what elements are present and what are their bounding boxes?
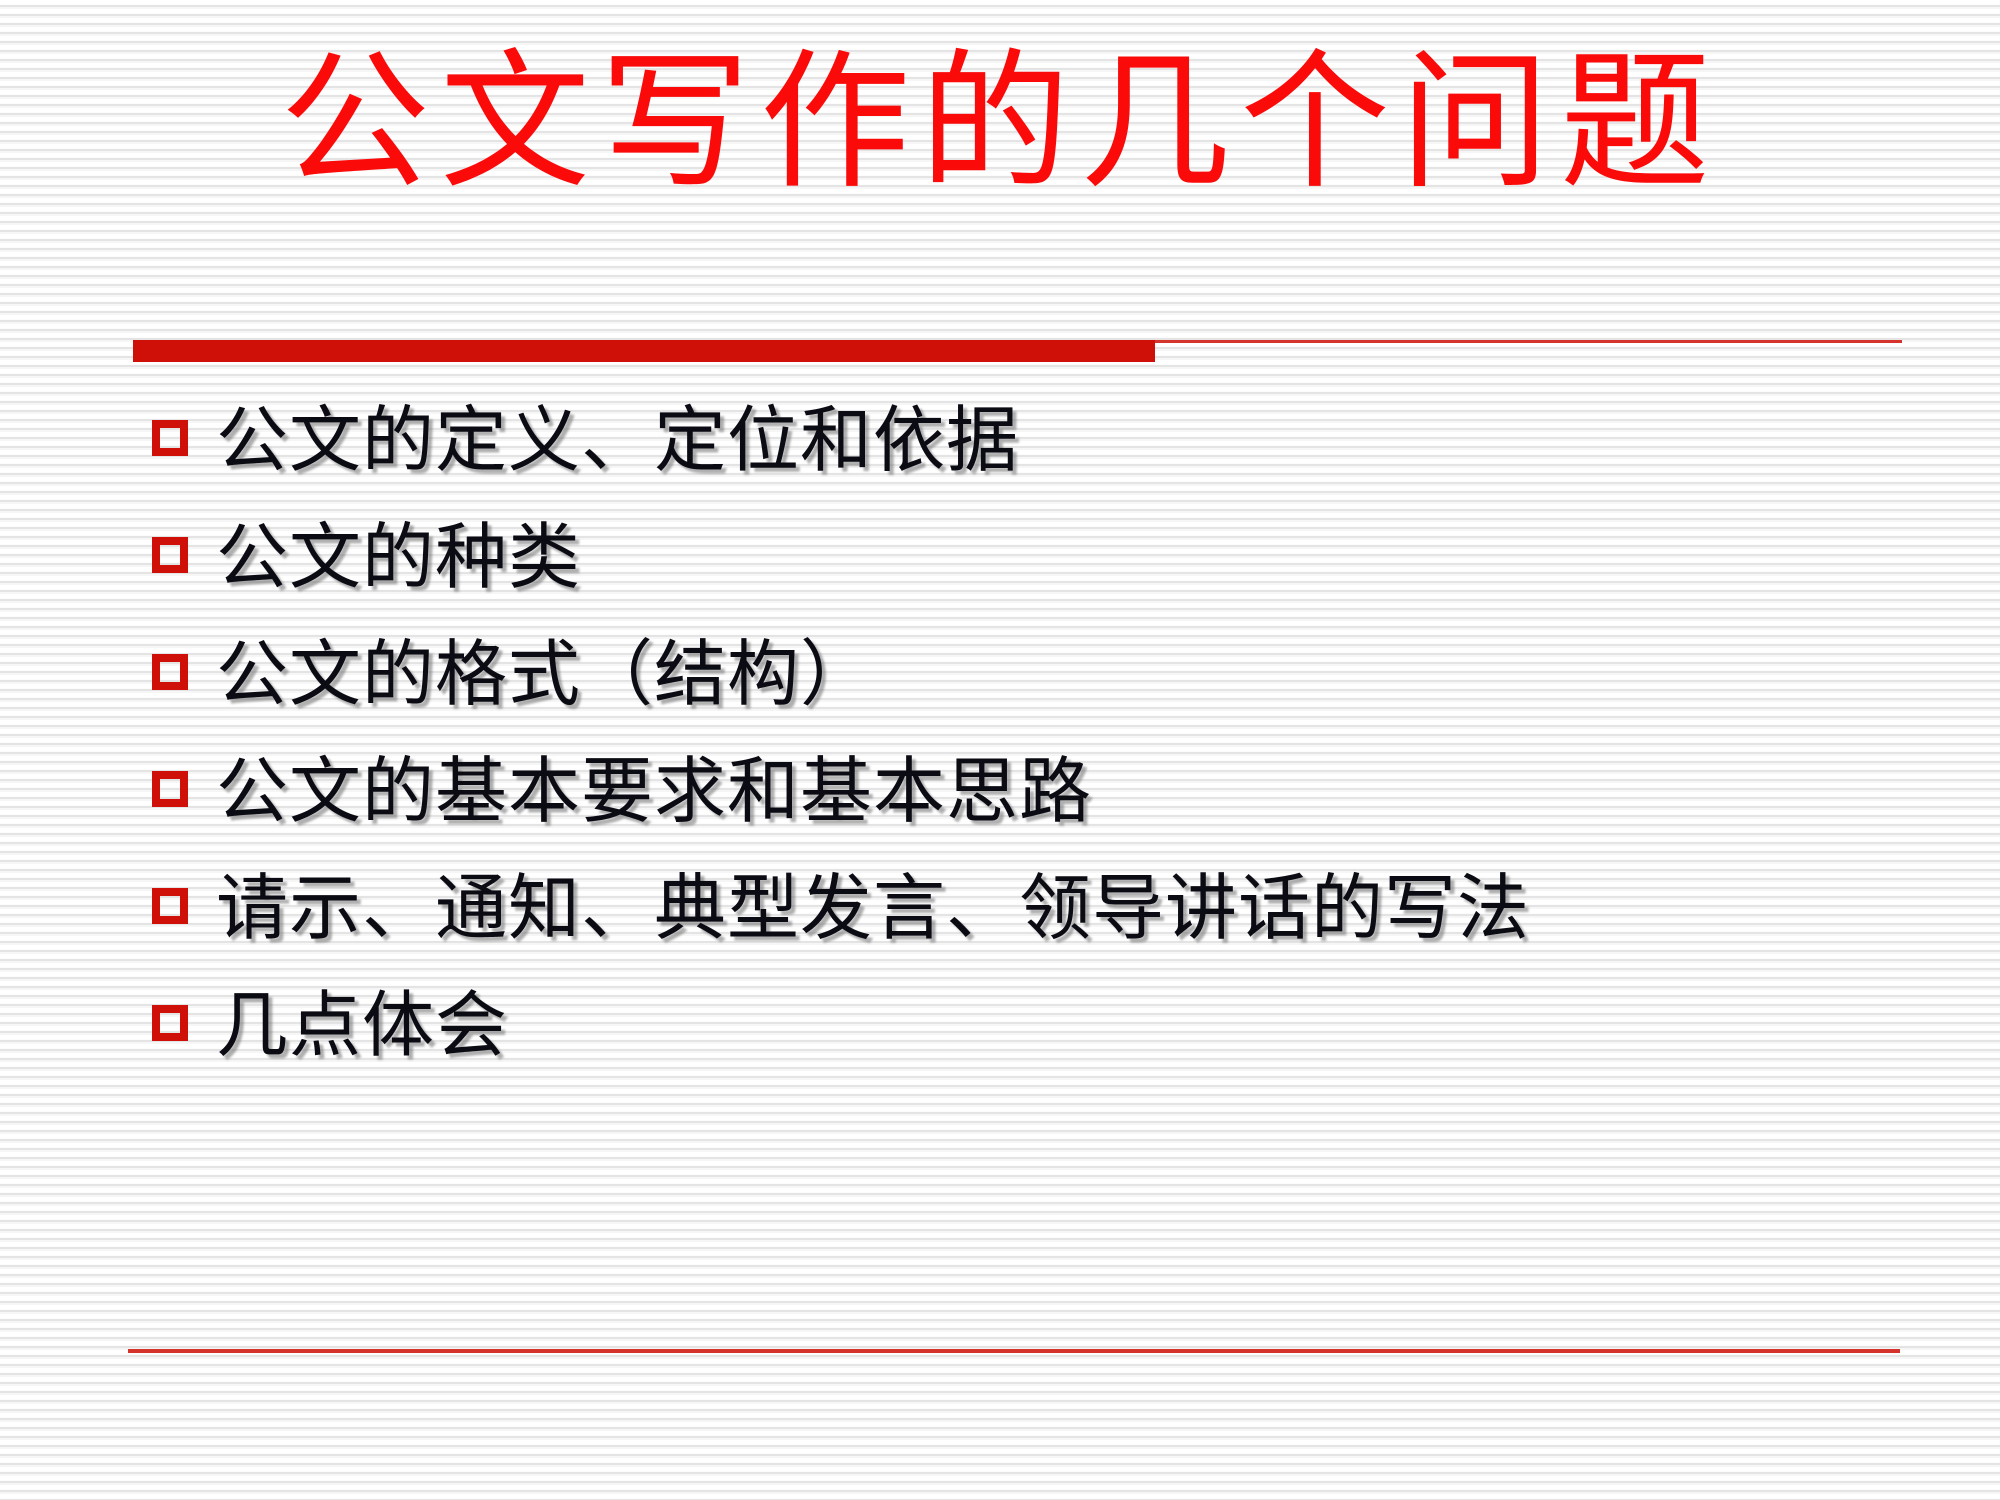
- divider-thick-bar: [133, 340, 1155, 362]
- list-item: 公文的基本要求和基本思路: [0, 749, 2000, 866]
- list-item-label: 几点体会: [216, 983, 2000, 1067]
- bottom-divider-rule: [128, 1349, 1900, 1353]
- presentation-slide: 公文写作的几个问题 公文的定义、定位和依据 公文的种类 公文的格式（结构） 公文…: [0, 0, 2000, 1500]
- list-item: 公文的格式（结构）: [0, 632, 2000, 749]
- list-item-label: 公文的定义、定位和依据: [216, 398, 2000, 482]
- list-item: 公文的定义、定位和依据: [0, 398, 2000, 515]
- divider-thin-line: [1155, 340, 1902, 343]
- bullet-list: 公文的定义、定位和依据 公文的种类 公文的格式（结构） 公文的基本要求和基本思路…: [0, 398, 2000, 1100]
- square-bullet-icon: [152, 654, 188, 690]
- list-item: 公文的种类: [0, 515, 2000, 632]
- square-bullet-icon: [152, 888, 188, 924]
- list-item-label: 公文的格式（结构）: [216, 632, 2000, 716]
- square-bullet-icon: [152, 1005, 188, 1041]
- list-item-label: 公文的基本要求和基本思路: [216, 749, 2000, 833]
- square-bullet-icon: [152, 420, 188, 456]
- title-divider: [0, 338, 2000, 364]
- square-bullet-icon: [152, 771, 188, 807]
- list-item-label: 公文的种类: [216, 515, 2000, 599]
- list-item: 请示、通知、典型发言、领导讲话的写法: [0, 866, 2000, 983]
- list-item: 几点体会: [0, 983, 2000, 1100]
- square-bullet-icon: [152, 537, 188, 573]
- list-item-label: 请示、通知、典型发言、领导讲话的写法: [216, 866, 2000, 950]
- slide-title: 公文写作的几个问题: [0, 48, 2000, 198]
